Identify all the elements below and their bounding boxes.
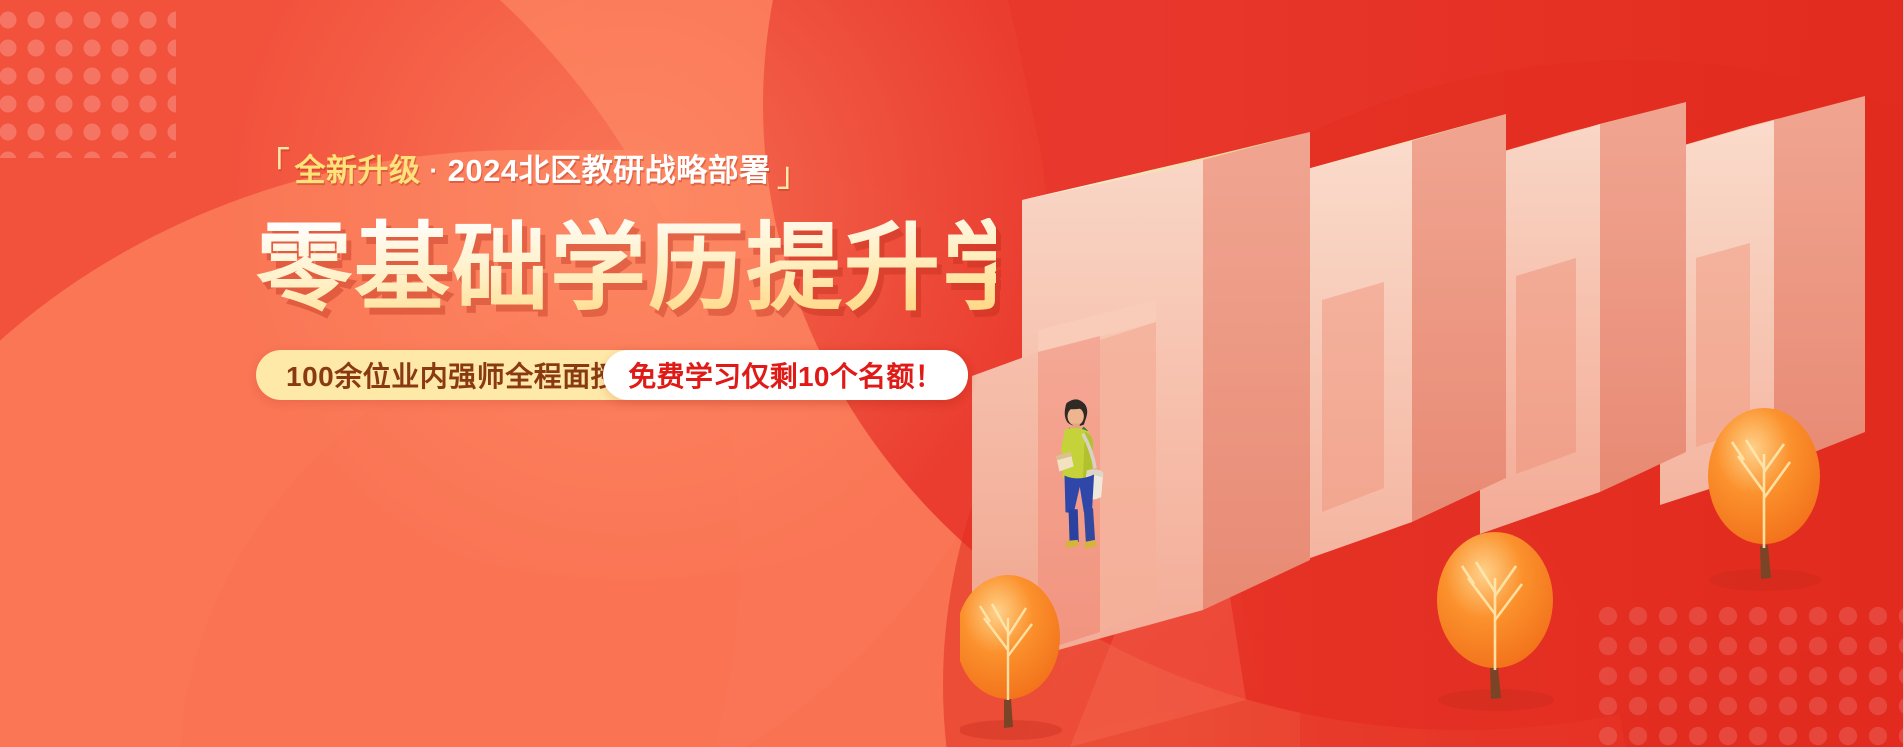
eyebrow-line: 「 全新升级 · 2024北区教研战略部署 」 [256,148,996,192]
standing-book-2 [1282,114,1506,568]
standing-book-3 [1480,102,1686,534]
copy-block: 「 全新升级 · 2024北区教研战略部署 」 零基础学历提升学霸班 100余位… [256,148,996,400]
promo-banner: 「 全新升级 · 2024北区教研战略部署 」 零基础学历提升学霸班 100余位… [0,0,1903,747]
eyebrow-gold-text: 全新升级 [295,155,421,186]
eyebrow-separator-dot: · [430,157,439,183]
tree-right [1708,408,1821,591]
bracket-open: 「 [256,148,291,182]
illustration-scene [960,0,1903,747]
headline-title: 零基础学历提升学霸班 [256,218,996,320]
badge-primary-label: 100余位业内强师全程面授 [286,350,619,400]
badge-highlight[interactable]: 免费学习仅剩10个名额！ [603,350,968,400]
bracket-close: 」 [777,158,812,192]
eyebrow-white-text: 2024北区教研战略部署 [448,155,771,186]
badge-row: 100余位业内强师全程面授 免费学习仅剩10个名额！ [256,350,968,400]
illustration-svg [960,0,1903,747]
badge-highlight-label: 免费学习仅剩10个名额！ [628,355,943,395]
tree-middle [1437,532,1554,711]
dot-grid-top-left [0,6,176,158]
